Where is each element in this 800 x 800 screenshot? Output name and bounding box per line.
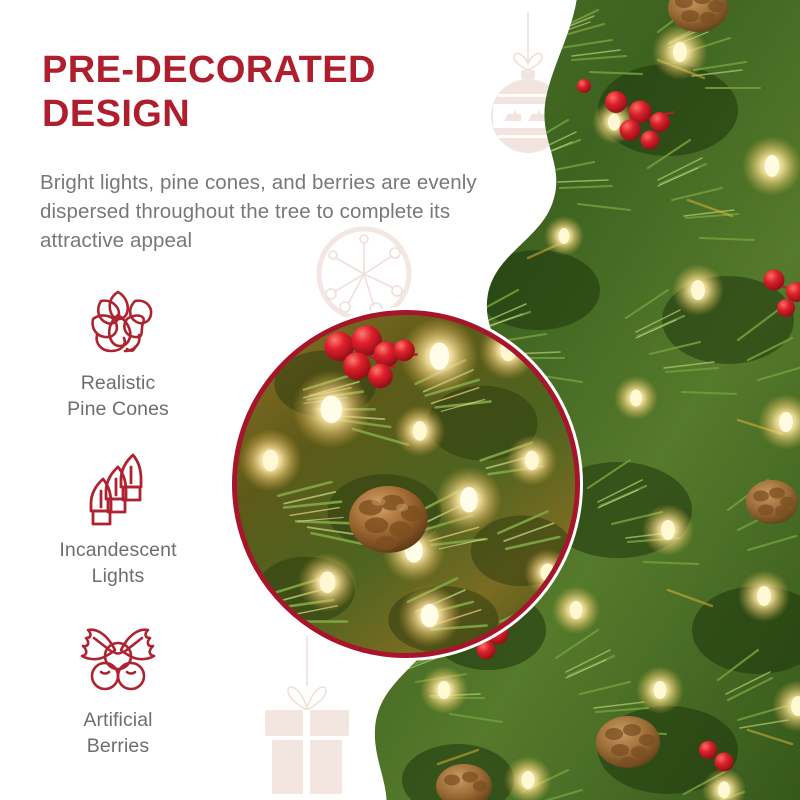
- feature-item-incandescent-lights: Incandescent Lights: [18, 450, 218, 590]
- headline-line-2: DESIGN: [42, 92, 472, 136]
- feature-item-pine-cones: Realistic Pine Cones: [18, 283, 218, 423]
- feature-label-line-2: Berries: [18, 734, 218, 760]
- feature-label-artificial-berries: Artificial Berries: [18, 708, 218, 760]
- hanging-gift-box-watermark: [248, 634, 366, 794]
- zoom-pine-cone: [349, 486, 428, 553]
- headline-line-1: PRE-DECORATED: [42, 48, 472, 92]
- feature-label-pine-cones: Realistic Pine Cones: [18, 371, 218, 423]
- feature-label-line-1: Realistic: [18, 371, 218, 397]
- zoom-inset-ring: [232, 310, 580, 658]
- page-title: PRE-DECORATED DESIGN: [42, 48, 472, 137]
- feature-label-line-2: Lights: [18, 564, 218, 590]
- feature-label-line-2: Pine Cones: [18, 397, 218, 423]
- feature-label-line-1: Artificial: [18, 708, 218, 734]
- holly-berries-icon: [18, 620, 218, 698]
- incandescent-bulbs-icon: [18, 450, 218, 528]
- close-up-detail-circle: [229, 307, 583, 661]
- subcopy-text: Bright lights, pine cones, and berries a…: [40, 168, 498, 255]
- feature-label-incandescent-lights: Incandescent Lights: [18, 538, 218, 590]
- pine-cone-icon: [18, 283, 218, 361]
- feature-label-line-1: Incandescent: [18, 538, 218, 564]
- product-feature-graphic: PRE-DECORATED DESIGN Bright lights, pine…: [0, 0, 800, 800]
- feature-item-artificial-berries: Artificial Berries: [18, 620, 218, 760]
- lit-branches-with-berries-and-pine-cone: [237, 315, 575, 653]
